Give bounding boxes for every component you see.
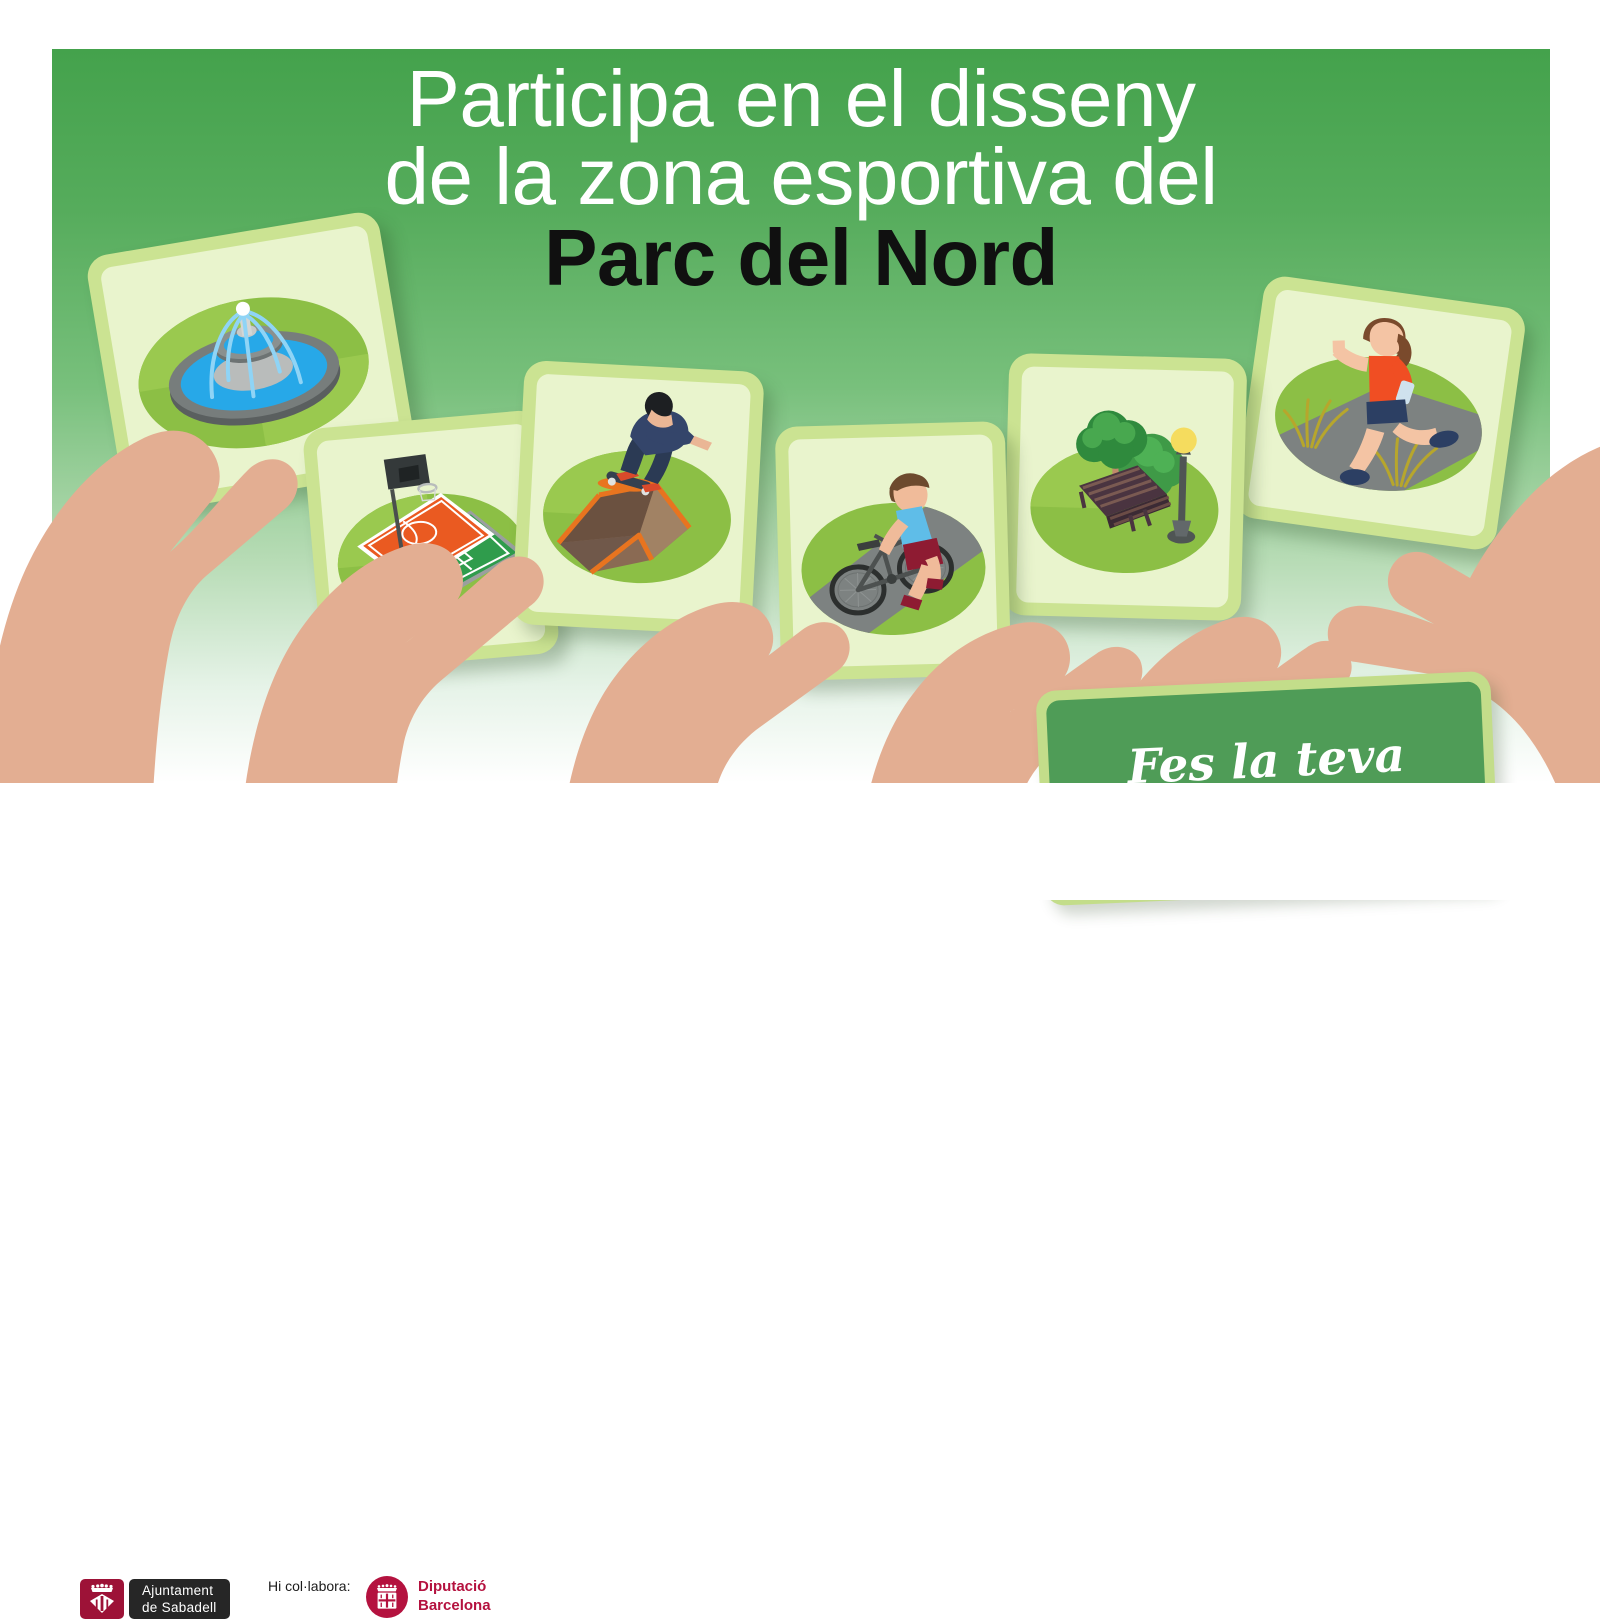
sabadell-wordmark: Ajuntament de Sabadell (129, 1579, 230, 1619)
logo-diputacio-barcelona[interactable]: Diputació Barcelona (366, 1576, 491, 1618)
card-cyclist[interactable] (775, 421, 1012, 681)
card-skate-ramp[interactable] (511, 360, 764, 636)
card-runner[interactable] (1232, 274, 1527, 552)
cyclist-icon (788, 434, 998, 667)
sabadell-line-1: Ajuntament (142, 1582, 217, 1599)
card-park-bench-face (1016, 366, 1234, 607)
sports-court-icon (316, 423, 546, 659)
card-cyclist-face (788, 434, 998, 667)
sabadell-line-2: de Sabadell (142, 1599, 217, 1616)
card-park-bench[interactable] (1003, 353, 1248, 621)
skate-ramp-icon (525, 374, 751, 623)
logo-ajuntament-sabadell[interactable]: Ajuntament de Sabadell (80, 1579, 230, 1619)
diputacio-line-1: Diputació (418, 1578, 491, 1597)
diputacio-line-2: Barcelona (418, 1597, 491, 1616)
runner-icon (1247, 288, 1513, 537)
card-sports-court-face (316, 423, 546, 659)
sabadell-crest-icon (80, 1579, 124, 1619)
card-runner-face (1247, 288, 1513, 537)
poster-canvas: Participa en el disseny de la zona espor… (0, 0, 1600, 900)
footer-bar: Ajuntament de Sabadell Hi col·labora: (0, 783, 1600, 900)
diputacio-crest-icon (366, 1576, 408, 1618)
diputacio-wordmark: Diputació Barcelona (418, 1578, 491, 1616)
collaborate-label: Hi col·labora: (268, 1578, 350, 1594)
card-skate-ramp-face (525, 374, 751, 623)
park-bench-icon (1016, 366, 1234, 607)
